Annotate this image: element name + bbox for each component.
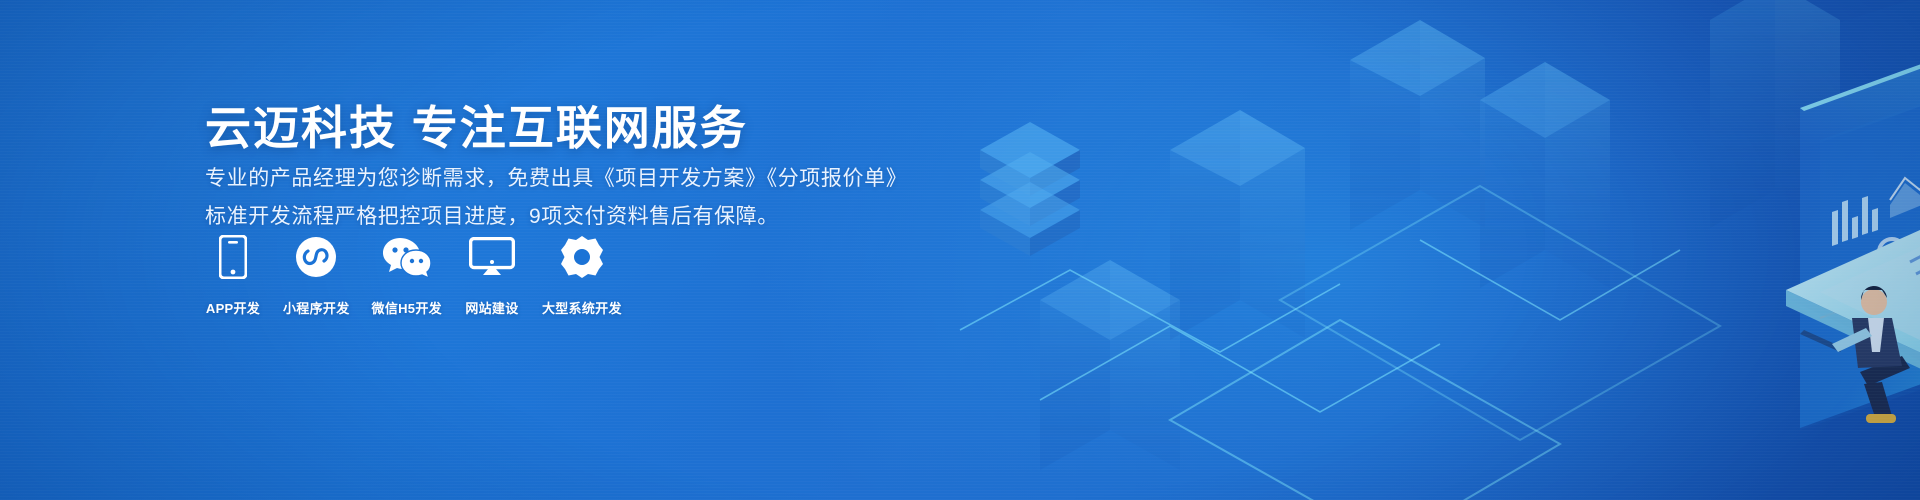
gear-icon	[554, 232, 610, 282]
server-stack	[980, 122, 1080, 256]
mobile-phone-icon	[205, 232, 261, 282]
service-item-website[interactable]: 网站建设	[464, 232, 520, 317]
service-list: APP开发 小程序开发	[205, 232, 622, 317]
service-label: 网站建设	[465, 298, 518, 317]
background-towers	[1040, 0, 1910, 470]
service-item-app[interactable]: APP开发	[205, 232, 261, 317]
service-label: 微信H5开发	[372, 298, 442, 317]
mini-program-icon	[288, 232, 344, 282]
illustration-container	[920, 0, 1920, 500]
service-label: 大型系统开发	[542, 298, 622, 317]
service-label: 小程序开发	[283, 298, 350, 317]
service-item-wechat-h5[interactable]: 微信H5开发	[372, 232, 442, 317]
banner-content: 云迈科技 专注互联网服务 专业的产品经理为您诊断需求，免费出具《项目开发方案》《…	[205, 0, 965, 500]
wechat-icon	[379, 232, 435, 282]
hero-banner: 云迈科技 专注互联网服务 专业的产品经理为您诊断需求，免费出具《项目开发方案》《…	[0, 0, 1920, 500]
subtitle-line-1: 专业的产品经理为您诊断需求，免费出具《项目开发方案》《分项报价单》	[205, 168, 907, 189]
page-title: 云迈科技 专注互联网服务	[205, 105, 748, 151]
isometric-illustration	[920, 0, 1920, 500]
service-item-system[interactable]: 大型系统开发	[542, 232, 622, 317]
service-label: APP开发	[206, 298, 260, 317]
subtitle-line-2: 标准开发流程严格把控项目进度，9项交付资料售后有保障。	[205, 206, 779, 227]
monitor-icon	[464, 232, 520, 282]
service-item-miniprogram[interactable]: 小程序开发	[283, 232, 350, 317]
